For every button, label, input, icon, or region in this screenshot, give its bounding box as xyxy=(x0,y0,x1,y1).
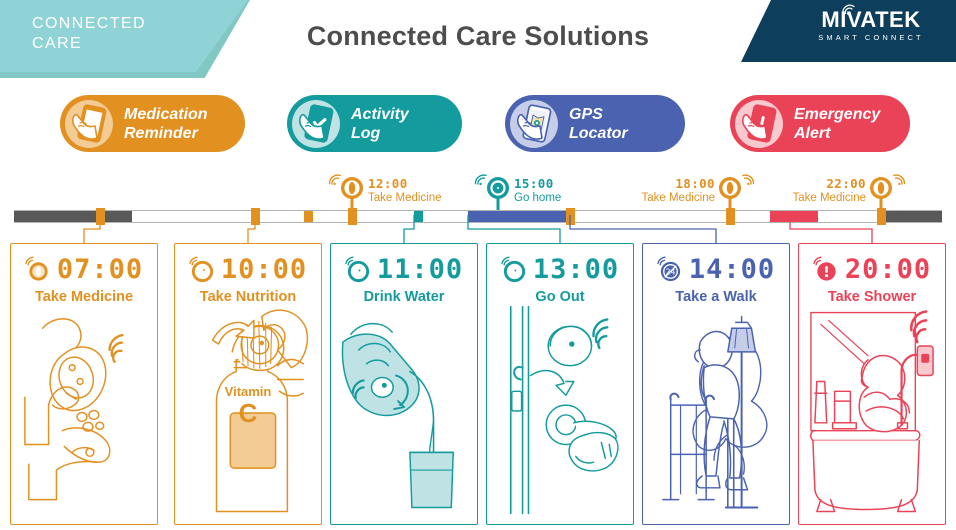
activity-card-header: 13:00Go Out xyxy=(487,254,633,306)
activity-card-label: Take Nutrition xyxy=(175,289,321,306)
feature-label-line1: Activity xyxy=(351,105,409,124)
connector-line xyxy=(84,215,100,245)
hand-phone-map-icon xyxy=(510,100,558,148)
connector-line xyxy=(790,215,872,245)
wifi-icon xyxy=(474,174,489,185)
timeline-marker-time: 15:00 xyxy=(514,176,561,191)
timeline-marker-label: 22:00Take Medicine xyxy=(792,176,866,206)
timeline-marker-activity: Take Medicine xyxy=(641,191,715,206)
wifi-icon xyxy=(328,174,343,185)
hand-phone-map-icon xyxy=(510,100,558,148)
hand-phone-check-icon xyxy=(292,100,340,148)
feature-pill-label: EmergencyAlert xyxy=(794,105,880,143)
wifi-icon xyxy=(328,174,343,185)
activity-card-header: 11:00Drink Water xyxy=(331,254,477,306)
activity-card-time: 13:00 xyxy=(533,256,619,284)
connector-lines xyxy=(0,215,956,245)
activity-card-label: Drink Water xyxy=(331,289,477,306)
wifi-icon xyxy=(474,174,489,185)
timeline-marker-label: 15:00Go home xyxy=(514,176,561,206)
activity-card[interactable]: 13:00Go Out xyxy=(486,243,634,525)
activity-card[interactable]: 10:00Take Nutrition VitaminC xyxy=(174,243,322,525)
logo-tagline: SMART CONNECT xyxy=(796,32,946,43)
feature-pill-emergency[interactable]: EmergencyAlert xyxy=(730,95,910,152)
door-handle-art xyxy=(495,306,625,516)
activity-card-time: 14:00 xyxy=(689,256,775,284)
activity-card-row: 07:00Take Medicine xyxy=(0,243,956,528)
bottle-cap-icon xyxy=(189,257,216,284)
page-header: CONNECTED CARE Connected Care Solutions … xyxy=(0,0,956,80)
logo: MIVATEK SMART CONNECT xyxy=(796,8,946,52)
activity-card[interactable]: 07:00Take Medicine xyxy=(10,243,158,525)
emergency-alert-icon xyxy=(813,257,840,284)
connector-line xyxy=(404,215,414,245)
timeline-card-connectors xyxy=(0,215,956,245)
timeline-marker-activity: Go home xyxy=(514,191,561,206)
connector-line xyxy=(570,215,716,245)
activity-card-header: 07:00Take Medicine xyxy=(11,254,157,306)
activity-card-time: 10:00 xyxy=(221,256,307,284)
feature-pill-label: MedicationReminder xyxy=(124,105,208,143)
feature-label-line2: Alert xyxy=(794,124,880,143)
water-sensor-icon xyxy=(345,257,372,284)
wifi-icon xyxy=(740,174,755,185)
feature-pill-gps[interactable]: GPSLocator xyxy=(505,95,685,152)
gps-locator-icon: 24 xyxy=(657,257,684,284)
pill-dispenser-hand-art xyxy=(19,306,149,516)
feature-pill-medication[interactable]: MedicationReminder xyxy=(60,95,245,152)
activity-card-time: 20:00 xyxy=(845,256,931,284)
svg-text:24: 24 xyxy=(665,267,675,276)
hand-phone-alert-icon xyxy=(735,100,783,148)
timeline-marker-time: 22:00 xyxy=(792,176,866,191)
pitcher-pour-art xyxy=(339,306,469,516)
feature-pill-row: MedicationReminder ActivityLog xyxy=(0,95,956,161)
feature-label-line1: GPS xyxy=(569,105,628,124)
feature-pill-label: ActivityLog xyxy=(351,105,409,143)
feature-label-line2: Reminder xyxy=(124,124,208,143)
door-sensor-icon xyxy=(501,257,528,284)
gps-locator-icon: 24 xyxy=(657,257,684,284)
wifi-icon xyxy=(891,174,906,185)
timeline-marker-time: 12:00 xyxy=(368,176,442,191)
logo-name: MIVATEK xyxy=(796,8,946,32)
pill-dispenser-icon xyxy=(25,257,52,284)
hand-phone-pill-icon xyxy=(65,100,113,148)
feature-label-line1: Medication xyxy=(124,105,208,124)
activity-card[interactable]: 11:00Drink Water xyxy=(330,243,478,525)
feature-label-line2: Locator xyxy=(569,124,628,143)
activity-card-label: Take Medicine xyxy=(11,289,157,306)
activity-card-time: 11:00 xyxy=(377,256,463,284)
wifi-icon xyxy=(891,174,906,185)
connector-line xyxy=(248,215,255,245)
activity-card[interactable]: 20:00Take Shower xyxy=(798,243,946,525)
logo-wifi-icon xyxy=(842,5,856,15)
door-sensor-icon xyxy=(501,257,528,284)
activity-card-header: 10:00Take Nutrition xyxy=(175,254,321,306)
activity-card[interactable]: 2414:00Take a Walk xyxy=(642,243,790,525)
connector-line xyxy=(468,215,560,245)
activity-card-label: Take a Walk xyxy=(643,289,789,306)
timeline-marker-label: 12:00Take Medicine xyxy=(368,176,442,206)
hand-phone-pill-icon xyxy=(65,100,113,148)
timeline-marker-time: 18:00 xyxy=(641,176,715,191)
water-sensor-icon xyxy=(345,257,372,284)
activity-card-label: Go Out xyxy=(487,289,633,306)
wifi-icon xyxy=(740,174,755,185)
hand-phone-check-icon xyxy=(292,100,340,148)
timeline-marker-activity: Take Medicine xyxy=(792,191,866,206)
hand-phone-alert-icon xyxy=(735,100,783,148)
emergency-alert-icon xyxy=(813,257,840,284)
bathtub-art xyxy=(807,306,937,516)
feature-pill-label: GPSLocator xyxy=(569,105,628,143)
feature-pill-activity[interactable]: ActivityLog xyxy=(287,95,462,152)
feature-label-line1: Emergency xyxy=(794,105,880,124)
bottle-cap-icon xyxy=(189,257,216,284)
activity-card-header: 2414:00Take a Walk xyxy=(643,254,789,306)
timeline-marker-activity: Take Medicine xyxy=(368,191,442,206)
timeline-marker-label: 18:00Take Medicine xyxy=(641,176,715,206)
vitamin-bottle-art xyxy=(183,306,313,516)
walker-outdoor-art xyxy=(651,306,781,516)
feature-label-line2: Log xyxy=(351,124,409,143)
activity-card-label: Take Shower xyxy=(799,289,945,306)
pill-dispenser-icon xyxy=(25,257,52,284)
activity-card-time: 07:00 xyxy=(57,256,143,284)
activity-card-header: 20:00Take Shower xyxy=(799,254,945,306)
